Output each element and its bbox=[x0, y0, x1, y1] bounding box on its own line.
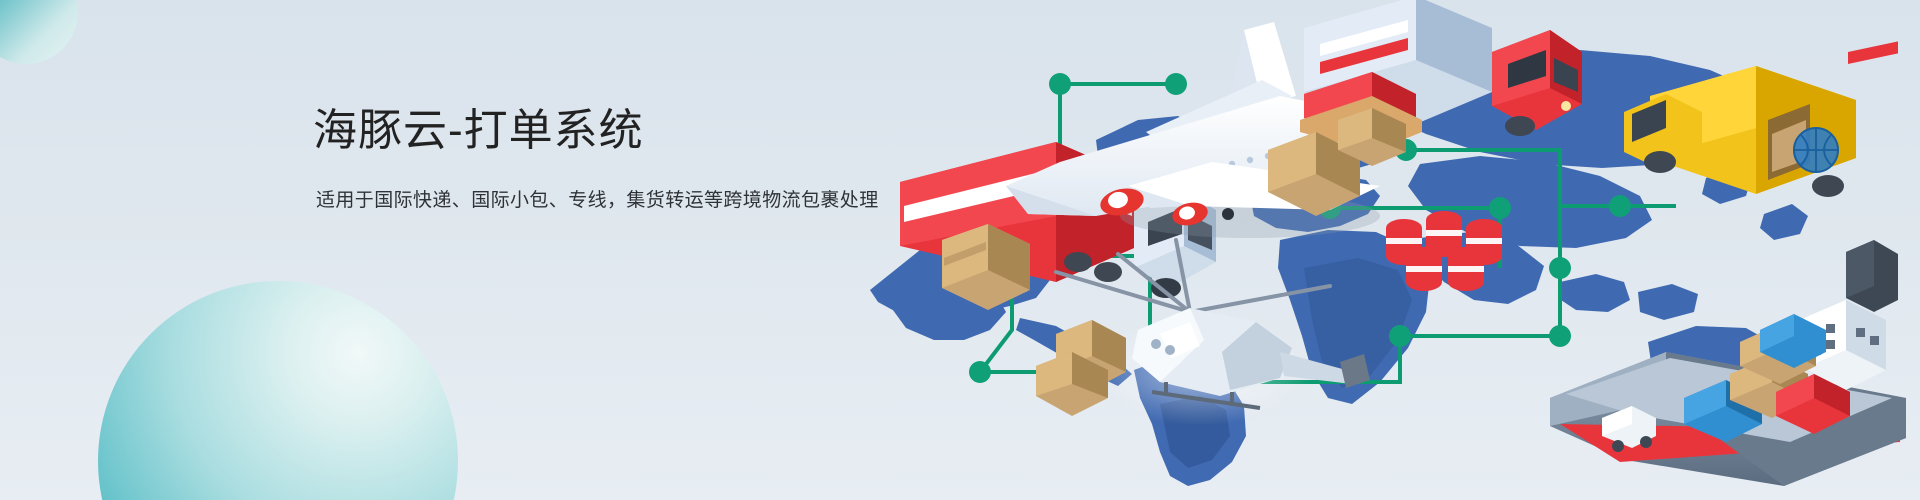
bottom-left-circle-decoration bbox=[98, 281, 458, 500]
top-left-circle-decoration bbox=[0, 0, 78, 64]
global-logistics-illustration bbox=[860, 0, 1920, 500]
hero-banner: 海豚云-打单系统 适用于国际快递、国际小包、专线，集货转运等跨境物流包裹处理 bbox=[0, 0, 1920, 500]
page-title: 海豚云-打单系统 bbox=[313, 106, 879, 157]
page-subtitle: 适用于国际快递、国际小包、专线，集货转运等跨境物流包裹处理 bbox=[316, 188, 879, 215]
banner-copy: 海豚云-打单系统 适用于国际快递、国际小包、专线，集货转运等跨境物流包裹处理 bbox=[313, 106, 879, 214]
